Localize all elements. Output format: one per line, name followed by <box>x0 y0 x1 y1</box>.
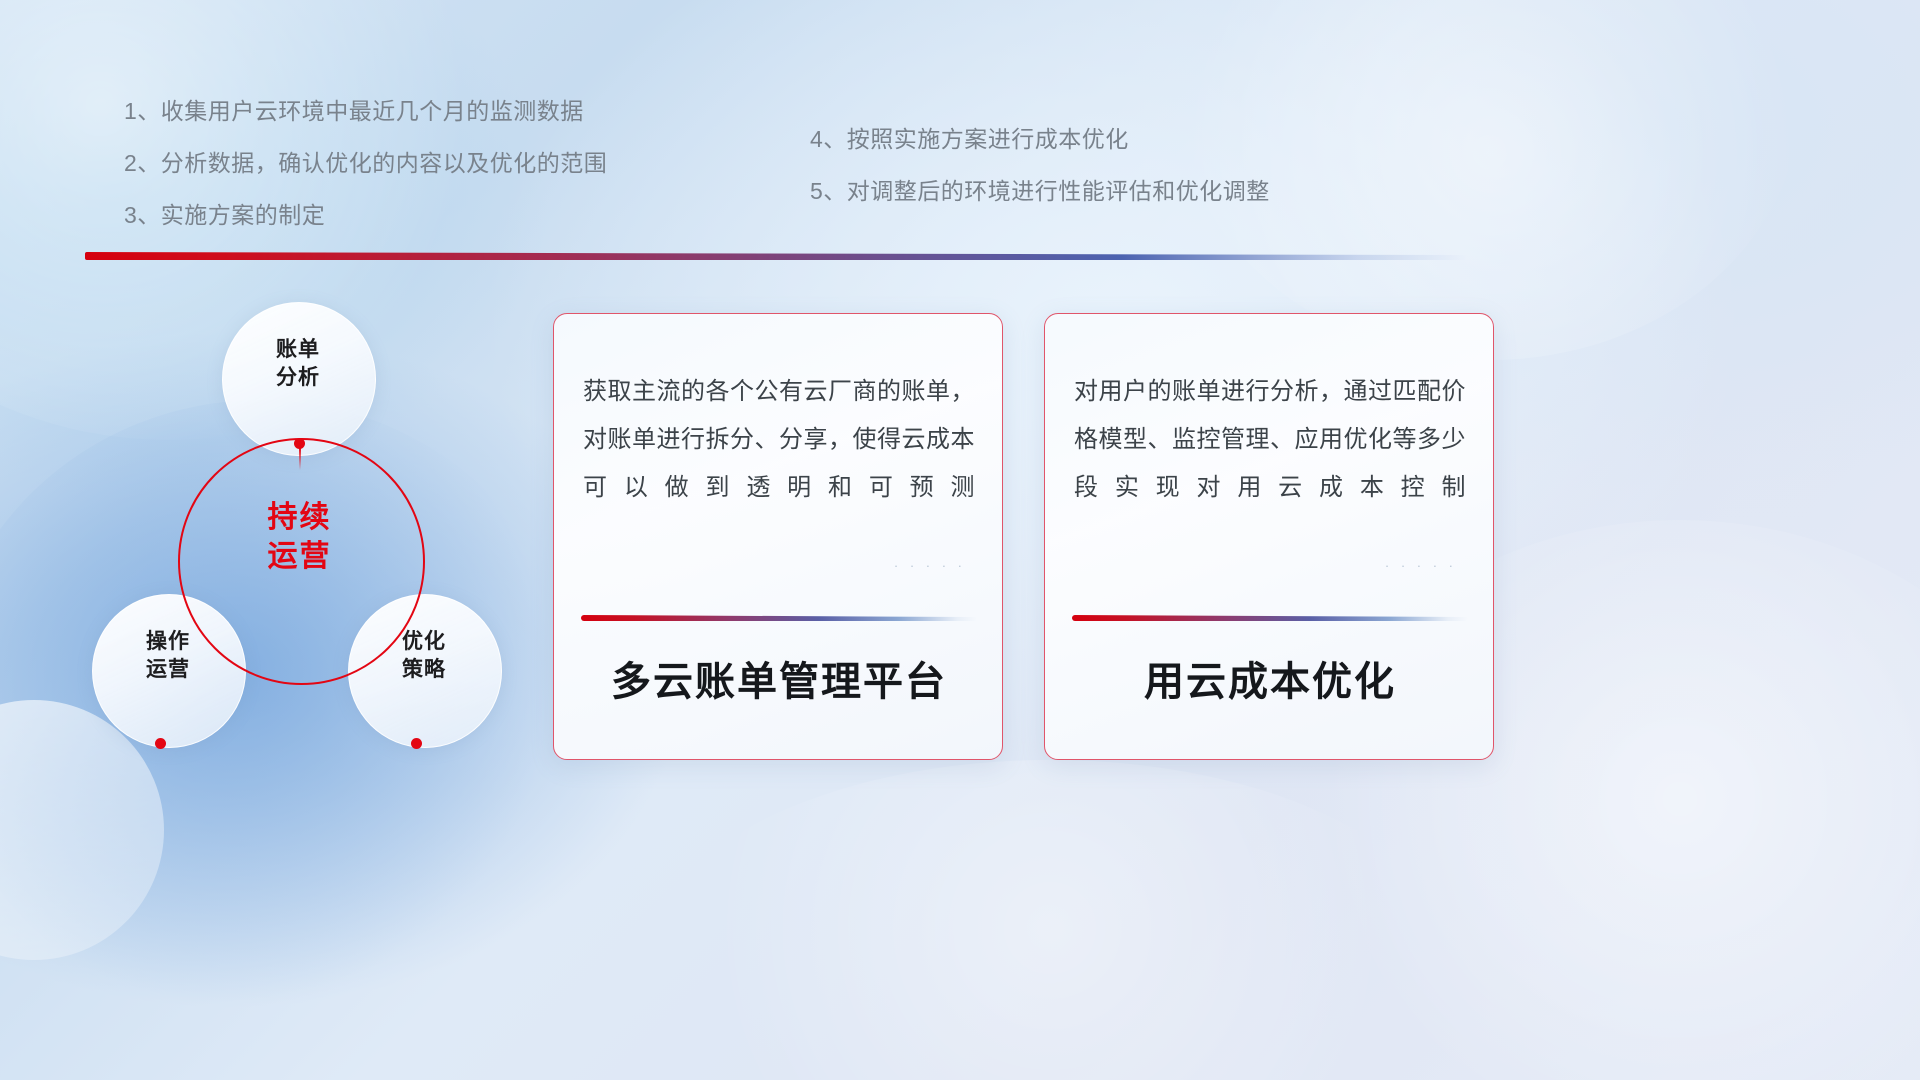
venn-label-line1: 操作 <box>146 630 190 653</box>
venn-dot-bottom-right <box>411 738 422 749</box>
step-item-2: 2、分析数据，确认优化的内容以及优化的范围 <box>124 152 607 175</box>
venn-center-label: 持续 运营 <box>178 498 421 576</box>
venn-label-optimization-strategy: 优化 策略 <box>348 628 500 685</box>
card-body-text: 获取主流的各个公有云厂商的账单，对账单进行拆分、分享，使得云成本可以做到透明和可… <box>583 368 975 512</box>
step-item-4: 4、按照实施方案进行成本优化 <box>810 128 1270 151</box>
background-glow-top-right <box>1180 0 1800 360</box>
background-glow-bottom <box>640 760 1460 1080</box>
venn-label-line1: 优化 <box>402 630 446 653</box>
continuous-operation-diagram: 账单 分析 操作 运营 优化 策略 持续 运营 <box>70 288 540 768</box>
venn-dot-top <box>294 438 305 449</box>
venn-label-bill-analysis: 账单 分析 <box>222 336 374 393</box>
step-item-5: 5、对调整后的环境进行性能评估和优化调整 <box>810 180 1270 203</box>
venn-label-line2: 分析 <box>276 366 320 389</box>
slide-canvas: 1、收集用户云环境中最近几个月的监测数据 2、分析数据，确认优化的内容以及优化的… <box>0 0 1920 1080</box>
step-item-3: 3、实施方案的制定 <box>124 204 607 227</box>
venn-label-operation: 操作 运营 <box>92 628 244 685</box>
steps-column-left: 1、收集用户云环境中最近几个月的监测数据 2、分析数据，确认优化的内容以及优化的… <box>124 100 607 256</box>
venn-connector-top <box>299 448 301 470</box>
steps-column-right: 4、按照实施方案进行成本优化 5、对调整后的环境进行性能评估和优化调整 <box>810 128 1270 232</box>
venn-center-line1: 持续 <box>268 501 332 534</box>
card-dots-decoration: · · · · · <box>894 558 966 573</box>
step-item-1: 1、收集用户云环境中最近几个月的监测数据 <box>124 100 607 123</box>
card-body-text: 对用户的账单进行分析，通过匹配价格模型、监控管理、应用优化等多少段实现对用云成本… <box>1074 368 1466 512</box>
card-title: 多云账单管理平台 <box>583 649 975 707</box>
venn-label-line1: 账单 <box>276 338 320 361</box>
venn-dot-bottom-left <box>155 738 166 749</box>
card-dots-decoration: · · · · · <box>1385 558 1457 573</box>
card-cloud-cost-optimization[interactable]: 对用户的账单进行分析，通过匹配价格模型、监控管理、应用优化等多少段实现对用云成本… <box>1044 313 1494 760</box>
section-divider <box>85 252 1467 260</box>
venn-label-line2: 策略 <box>402 658 446 681</box>
card-title: 用云成本优化 <box>1074 649 1466 707</box>
card-multi-cloud-billing-platform[interactable]: 获取主流的各个公有云厂商的账单，对账单进行拆分、分享，使得云成本可以做到透明和可… <box>553 313 1003 760</box>
card-divider <box>581 615 977 621</box>
card-divider <box>1072 615 1468 621</box>
venn-label-line2: 运营 <box>146 658 190 681</box>
venn-center-line2: 运营 <box>268 540 332 573</box>
